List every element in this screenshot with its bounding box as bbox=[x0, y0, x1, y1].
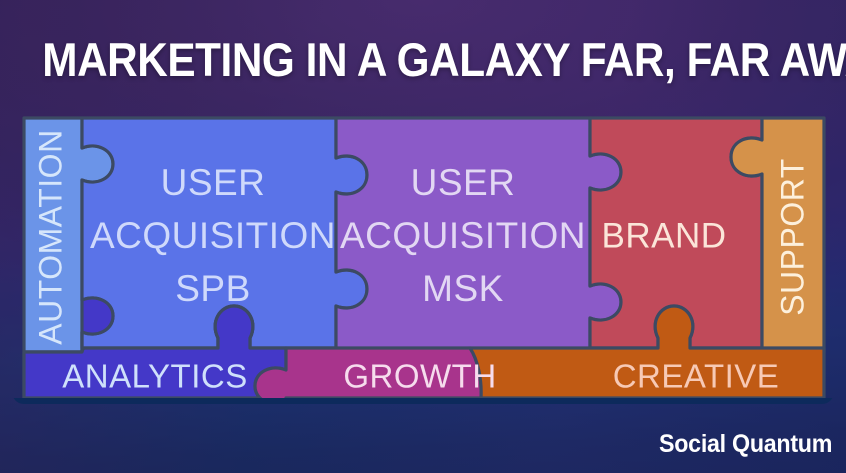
piece-label-growth: GROWTH bbox=[343, 358, 496, 395]
piece-label-user-acquisition-spb-line3: SPB bbox=[175, 268, 251, 309]
piece-label-user-acquisition-msk-line1: USER bbox=[411, 162, 516, 203]
piece-label-user-acquisition-spb-line2: ACQUISITION bbox=[90, 215, 336, 256]
piece-label-creative: CREATIVE bbox=[613, 358, 780, 395]
piece-label-automation: AUTOMATION bbox=[32, 129, 68, 344]
piece-label-user-acquisition-msk-line3: MSK bbox=[422, 268, 504, 309]
puzzle-diagram: AUTOMATION USER ACQUISITION SPB USER ACQ… bbox=[0, 0, 846, 473]
piece-label-user-acquisition-msk-line2: ACQUISITION bbox=[340, 215, 586, 256]
piece-label-support: SUPPORT bbox=[774, 158, 810, 316]
piece-label-user-acquisition-spb-line1: USER bbox=[161, 162, 266, 203]
slide-canvas: MARKETING IN A GALAXY FAR, FAR AWAY bbox=[0, 0, 846, 473]
top-trim bbox=[0, 0, 846, 112]
piece-label-brand: BRAND bbox=[601, 216, 726, 255]
piece-label-analytics: ANALYTICS bbox=[62, 358, 247, 395]
brand-logo: Social Quantum bbox=[659, 430, 832, 459]
